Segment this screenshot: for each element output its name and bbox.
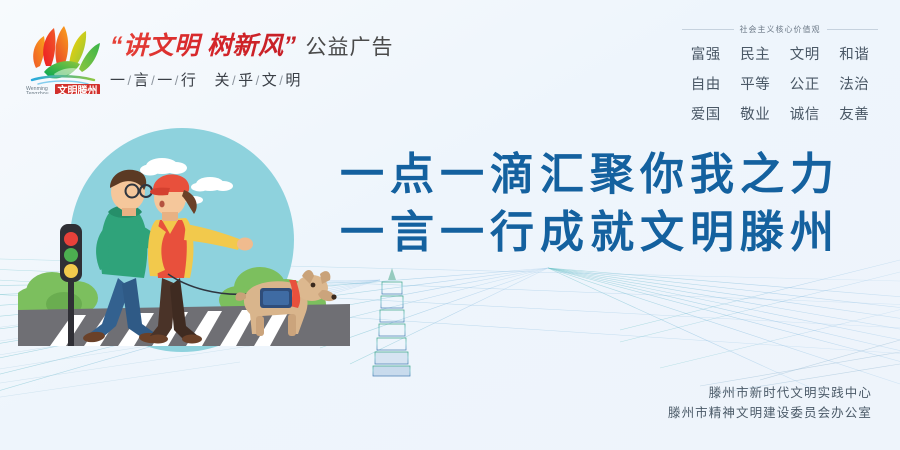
slogan-category-text: 公益广告 — [305, 31, 393, 61]
brand-text-block: “讲文明 树新风” 公益广告 一/言/一/行 关/乎/文/明 — [110, 22, 393, 90]
traffic-light-green — [64, 248, 78, 262]
subtitle-separator: / — [175, 73, 180, 88]
subtitle-char-4: 关 — [214, 72, 231, 89]
poster-header: Wenming Tengzhou 文明滕州 “讲文明 树新风” 公益广告 一/言… — [0, 0, 900, 118]
subtitle-separator: / — [232, 73, 237, 88]
core-values-title: 社会主义核心价值观 — [740, 24, 821, 35]
brand-lockup: Wenming Tengzhou 文明滕州 “讲文明 树新风” 公益广告 一/言… — [24, 22, 393, 94]
subtitle-char-1: 言 — [134, 72, 151, 89]
slogan-subtitle: 一/言/一/行 关/乎/文/明 — [110, 69, 393, 90]
core-value-item: 民主 — [732, 43, 780, 64]
core-values-grid: 富强 民主 文明 和谐 自由 平等 公正 法治 爱国 敬业 诚信 友善 — [682, 43, 878, 124]
slogan-quoted-text: “讲文明 树新风” — [110, 26, 296, 62]
divider-left — [682, 29, 734, 30]
poster-footer: 滕州市新时代文明实践中心 滕州市精神文明建设委员会办公室 — [668, 383, 872, 424]
divider-right — [827, 29, 879, 30]
logo-pinyin-line2: Tengzhou — [26, 91, 49, 94]
core-values-title-row: 社会主义核心价值观 — [682, 24, 878, 35]
core-value-item: 文明 — [781, 43, 829, 64]
core-value-item: 和谐 — [831, 43, 879, 64]
footer-line-2: 滕州市精神文明建设委员会办公室 — [668, 403, 872, 424]
subtitle-separator: / — [279, 73, 284, 88]
subtitle-char-7: 明 — [285, 72, 302, 89]
woman-hand — [237, 238, 253, 251]
pagoda-tower-icon — [371, 262, 412, 376]
core-value-item: 爱国 — [682, 103, 730, 124]
core-value-item: 平等 — [732, 73, 780, 94]
core-value-item: 法治 — [831, 73, 879, 94]
footer-line-1: 滕州市新时代文明实践中心 — [668, 383, 872, 404]
dog-nose — [331, 294, 336, 299]
core-values-block: 社会主义核心价值观 富强 民主 文明 和谐 自由 平等 公正 法治 爱国 敬业 … — [682, 24, 878, 124]
headline-block: 一点一滴汇聚你我之力 一言一行成就文明滕州 — [340, 146, 840, 262]
subtitle-char-0: 一 — [110, 72, 127, 89]
subtitle-char-3: 行 — [181, 72, 198, 89]
subtitle-separator: / — [151, 73, 156, 88]
core-value-item: 友善 — [831, 103, 879, 124]
headline-line-1: 一点一滴汇聚你我之力 — [340, 146, 840, 204]
subtitle-char-2: 一 — [157, 72, 174, 89]
traffic-light-red — [64, 232, 78, 246]
core-value-item: 诚信 — [781, 103, 829, 124]
subtitle-separator: / — [256, 73, 261, 88]
headline-line-2: 一言一行成就文明滕州 — [340, 204, 840, 262]
dog-eye — [311, 283, 316, 288]
core-value-item: 公正 — [781, 73, 829, 94]
lotus-flower-logo-icon: Wenming Tengzhou 文明滕州 — [24, 22, 102, 94]
subtitle-char-5: 乎 — [238, 72, 255, 89]
core-value-item: 自由 — [682, 73, 730, 94]
crosswalk-illustration — [10, 128, 350, 378]
slogan-row: “讲文明 树新风” 公益广告 — [110, 26, 393, 62]
subtitle-separator: / — [128, 73, 133, 88]
core-value-item: 敬业 — [732, 103, 780, 124]
traffic-light-yellow — [64, 264, 78, 278]
core-value-item: 富强 — [682, 43, 730, 64]
public-service-poster: Wenming Tengzhou 文明滕州 “讲文明 树新风” 公益广告 一/言… — [0, 0, 900, 450]
logo-badge-text: 文明滕州 — [58, 84, 98, 94]
subtitle-char-6: 文 — [262, 72, 279, 89]
